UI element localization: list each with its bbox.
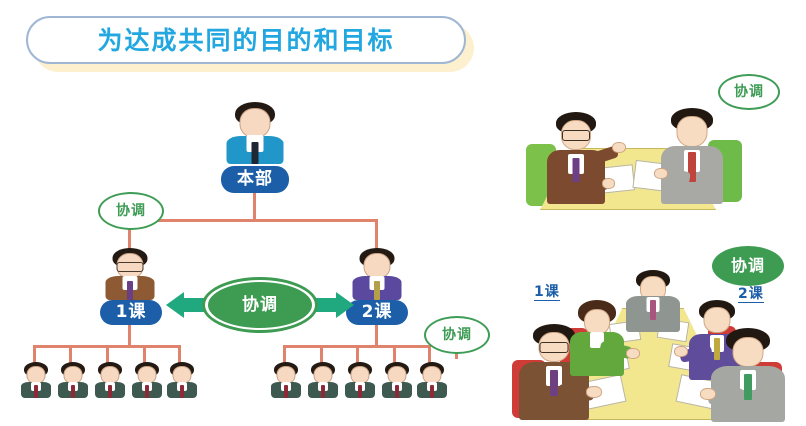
connector-root-horizontal xyxy=(128,219,378,222)
org-node-section-1[interactable]: 1课 xyxy=(100,300,162,325)
coordination-badge-center-label: 协调 xyxy=(242,297,278,314)
coordination-arrow-right-head xyxy=(336,292,354,318)
connector-root-vertical xyxy=(253,192,256,222)
org-node-headquarters-label: 本部 xyxy=(237,171,273,188)
staff-avatar-icon xyxy=(416,362,447,398)
connector-staff1-leg xyxy=(69,345,72,363)
connector-dept2-vertical xyxy=(375,219,378,249)
coordination-badge-top-left: 协调 xyxy=(98,192,164,230)
coordination-badge-center: 协调 xyxy=(208,282,312,328)
org-node-section-2[interactable]: 2课 xyxy=(346,300,408,325)
photo-person-right xyxy=(658,108,726,204)
photo-person-left xyxy=(544,112,608,204)
glasses-icon xyxy=(562,130,590,141)
photo-person-head xyxy=(624,270,682,332)
coordination-badge-photo-bottom: 协调 xyxy=(712,246,784,286)
page-title: 为达成共同的目的和目标 xyxy=(97,28,394,53)
connector-staff2-leg xyxy=(428,345,431,363)
org-node-headquarters[interactable]: 本部 xyxy=(221,166,289,193)
coordination-badge-photo-top-label: 协调 xyxy=(734,85,764,99)
staff-avatar-icon xyxy=(344,362,375,398)
connector-staff1-leg xyxy=(178,345,181,363)
connector-staff2-leg xyxy=(356,345,359,363)
photo-label-section-2: 2课 xyxy=(738,287,764,303)
slide-canvas: 为达成共同的目的和目标 本部 协调 xyxy=(0,0,806,426)
staff-avatar-icon xyxy=(131,362,162,398)
section-chief-avatar-icon xyxy=(352,248,402,300)
coordination-arrow-left-head xyxy=(166,292,184,318)
connector-staff1-leg xyxy=(143,345,146,363)
coordination-badge-photo-bottom-label: 协调 xyxy=(731,258,765,274)
photo-person-right-front xyxy=(708,328,788,422)
org-node-section-2-label: 2课 xyxy=(362,304,393,321)
staff-avatar-icon xyxy=(166,362,197,398)
section-chief-avatar-icon xyxy=(105,248,155,300)
photo-label-section-1: 1课 xyxy=(534,285,560,301)
glasses-icon xyxy=(540,342,569,353)
title-banner: 为达成共同的目的和目标 xyxy=(26,16,466,64)
manager-avatar-icon xyxy=(226,102,284,164)
glasses-icon xyxy=(117,262,144,272)
connector-staff2-leg xyxy=(393,345,396,363)
connector-staff2-leg xyxy=(283,345,286,363)
coordination-badge-right-label: 协调 xyxy=(442,328,472,342)
connector-staff1-leg xyxy=(33,345,36,363)
org-node-section-1-label: 1课 xyxy=(116,304,147,321)
staff-avatar-icon xyxy=(381,362,412,398)
staff-avatar-icon xyxy=(307,362,338,398)
connector-staff1-leg xyxy=(106,345,109,363)
staff-avatar-icon xyxy=(270,362,301,398)
photo-person-left-back xyxy=(566,300,628,376)
coordination-badge-photo-top: 协调 xyxy=(718,74,780,110)
coordination-badge-right: 协调 xyxy=(424,316,490,354)
connector-dept2-to-staff xyxy=(375,324,378,347)
coordination-badge-top-left-label: 协调 xyxy=(116,204,146,218)
connector-dept1-to-staff xyxy=(128,324,131,347)
staff-avatar-icon xyxy=(20,362,51,398)
staff-avatar-icon xyxy=(94,362,125,398)
connector-coord-topleft xyxy=(128,228,131,250)
staff-avatar-icon xyxy=(57,362,88,398)
connector-staff2-leg xyxy=(320,345,323,363)
